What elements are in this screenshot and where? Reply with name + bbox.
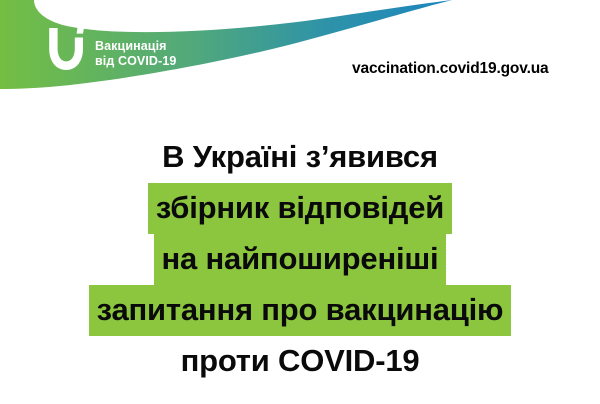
brand-logo-line2: від COVID-19 [95,54,176,69]
headline-line-5: проти COVID-19 [0,336,600,387]
headline-block: В Україні з’явився збірник відповідей на… [0,132,600,387]
headline-line-5-text: проти COVID-19 [173,336,428,387]
site-url[interactable]: vaccination.covid19.gov.ua [352,60,549,78]
headline-line-1-text: В Україні з’явився [154,132,446,183]
headline-line-3: на найпоширеніші [0,234,600,285]
vaccination-v-checkmark-icon [46,26,86,72]
headline-line-2: збірник відповідей [0,183,600,234]
headline-line-3-text: на найпоширеніші [154,234,447,285]
headline-line-4-text: запитання про вакцинацію [89,285,512,336]
headline-line-4: запитання про вакцинацію [0,285,600,336]
brand-logo-text: Вакцинація від COVID-19 [95,29,176,69]
headline-line-2-text: збірник відповідей [148,183,452,234]
headline-line-1: В Україні з’явився [0,132,600,183]
brand-logo: Вакцинація від COVID-19 [46,26,176,72]
brand-logo-line1: Вакцинація [95,39,176,54]
poster-root: Вакцинація від COVID-19 vaccination.covi… [0,0,600,404]
